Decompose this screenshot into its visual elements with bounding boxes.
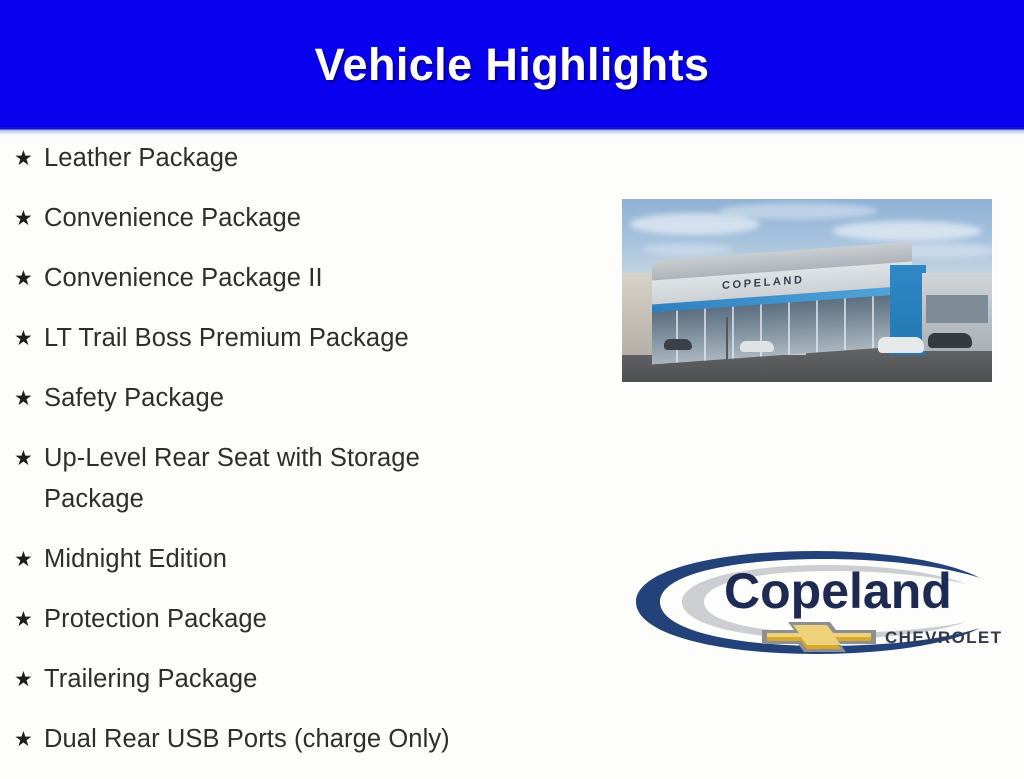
list-item-label: LT Trail Boss Premium Package <box>44 318 506 359</box>
star-icon: ★ <box>12 258 44 299</box>
star-icon: ★ <box>12 378 44 419</box>
window-mullion <box>872 296 874 348</box>
star-icon: ★ <box>12 438 44 479</box>
cloud-shape <box>718 203 878 219</box>
dealership-photo: COPELAND <box>622 199 992 382</box>
copeland-chevrolet-logo: Copeland CHEVROLET <box>620 538 1004 672</box>
cloud-shape <box>832 221 982 241</box>
list-item: ★ Convenience Package <box>0 198 600 239</box>
star-icon: ★ <box>12 318 44 359</box>
list-item-label: Up-Level Rear Seat with Storage Package <box>44 438 506 520</box>
building-right-glass <box>926 295 988 323</box>
star-icon: ★ <box>12 138 44 179</box>
list-item: ★ Midnight Edition <box>0 539 600 580</box>
slide-root: Vehicle Highlights ★ Leather Package ★ C… <box>0 0 1024 768</box>
building-left-wing <box>622 273 656 355</box>
parked-car <box>664 339 692 350</box>
list-item-label: Convenience Package II <box>44 258 506 299</box>
list-item-label: Convenience Package <box>44 198 506 239</box>
window-mullion <box>788 302 790 354</box>
list-item-label: Trailering Package <box>44 659 506 700</box>
window-mullion <box>732 307 734 359</box>
window-mullion <box>704 309 706 361</box>
list-item: ★ Up-Level Rear Seat with Storage Packag… <box>0 438 600 520</box>
cloud-shape <box>642 243 732 256</box>
list-item: ★ Safety Package <box>0 378 600 419</box>
logo-wordmark: Copeland <box>724 563 952 619</box>
list-item: ★ Convenience Package II <box>0 258 600 299</box>
window-mullion <box>816 300 818 352</box>
window-mullion <box>676 311 678 363</box>
list-item-label: Safety Package <box>44 378 506 419</box>
star-icon: ★ <box>12 659 44 700</box>
list-item-label: Midnight Edition <box>44 539 506 580</box>
star-icon: ★ <box>12 539 44 580</box>
parked-car <box>740 341 774 352</box>
list-item-label: Dual Rear USB Ports (charge Only) <box>44 719 506 760</box>
star-icon: ★ <box>12 198 44 239</box>
list-item-label: Protection Package <box>44 599 506 640</box>
list-item-label: Leather Package <box>44 138 506 179</box>
logo-brand-text: CHEVROLET <box>885 628 1002 647</box>
list-item: ★ Trailering Package <box>0 659 600 700</box>
star-icon: ★ <box>12 599 44 640</box>
parked-car <box>928 333 972 348</box>
list-item: ★ LT Trail Boss Premium Package <box>0 318 600 359</box>
parked-car <box>878 337 924 353</box>
list-item: ★ Protection Package <box>0 599 600 640</box>
list-item: ★ Leather Package <box>0 138 600 179</box>
header-underline <box>0 127 1024 136</box>
vehicle-highlights-list: ★ Leather Package ★ Convenience Package … <box>0 138 600 779</box>
lamp-post <box>726 317 728 359</box>
star-icon: ★ <box>12 719 44 760</box>
page-title: Vehicle Highlights <box>0 38 1024 92</box>
window-mullion <box>844 298 846 350</box>
list-item: ★ Dual Rear USB Ports (charge Only) <box>0 719 600 760</box>
